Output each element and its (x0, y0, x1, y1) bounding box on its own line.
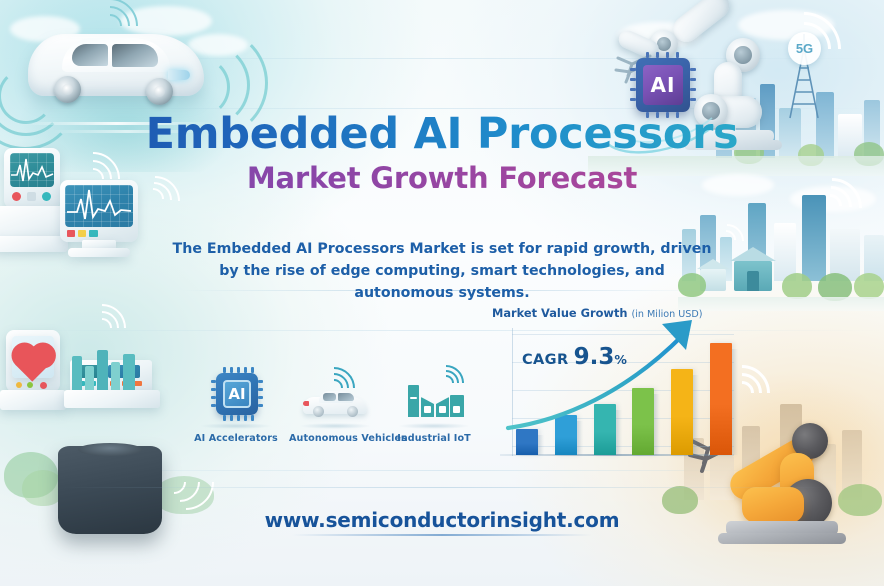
cagr-value: 9.3 (574, 344, 615, 370)
arm-base-plate (718, 533, 846, 544)
city-building (72, 356, 82, 390)
car-wheel (347, 406, 358, 417)
car-wheel (313, 406, 324, 417)
factory-vent (410, 397, 417, 399)
device-base (0, 390, 66, 410)
car-wheel (54, 76, 81, 103)
icon-shadow (398, 423, 470, 429)
chip-label: AI (223, 380, 251, 408)
car-windshield (112, 44, 158, 67)
intro-paragraph: The Embedded AI Processors Market is set… (168, 238, 716, 304)
screen-button (78, 230, 86, 237)
screen-button (67, 230, 75, 237)
factory-wifi-icon (388, 367, 480, 427)
house-door (747, 271, 759, 291)
category-item-autonomous-vehicles[interactable]: Autonomous Vehicles (289, 367, 381, 444)
chart-bar (671, 369, 693, 455)
factory-window (453, 406, 460, 413)
car-wheel (146, 78, 173, 105)
icon-shadow (200, 423, 272, 429)
panel-button (134, 381, 142, 386)
cagr-percent: % (614, 352, 627, 367)
chart-bar (516, 429, 538, 455)
tree (854, 273, 884, 299)
category-label: Industrial IoT (388, 433, 480, 444)
category-item-ai-accelerators[interactable]: AI (190, 367, 282, 444)
car-windshield (338, 393, 354, 401)
chart-bar (632, 388, 654, 455)
factory-window (439, 406, 446, 413)
speaker-ring (78, 443, 142, 456)
device-button (40, 382, 47, 389)
y-axis (512, 328, 513, 456)
factory-icon (408, 385, 464, 417)
car-headlight (168, 70, 190, 80)
infographic-poster: 5G AI (0, 0, 884, 586)
category-label: Autonomous Vehicles (289, 433, 381, 444)
device-button (16, 382, 22, 388)
market-growth-chart: Market Value Growth (in Milion USD) (486, 306, 736, 478)
category-row: AI (190, 352, 480, 444)
chart-bar (555, 415, 577, 455)
car-taillight (303, 401, 309, 406)
chart-bar (710, 343, 732, 455)
factory-window (424, 406, 431, 413)
page-title: Embedded AI Processors (0, 112, 884, 157)
panel-base (64, 390, 160, 408)
city-building (111, 362, 120, 390)
car-window (72, 44, 108, 66)
5g-tower: 5G (774, 26, 834, 122)
chart-bar (594, 404, 616, 455)
url-underline (292, 534, 592, 536)
icon-shadow (299, 423, 371, 429)
ai-chip-icon: AI (190, 367, 282, 427)
chart-unit-label: (in Milion USD) (631, 309, 702, 320)
city-building (85, 366, 94, 390)
chip-body: AI (216, 373, 258, 415)
device-button (27, 382, 33, 388)
monitor-foot (68, 248, 130, 257)
monitor-cart (0, 206, 64, 240)
website-url[interactable]: www.semiconductorinsight.com (0, 508, 884, 532)
screen-button (89, 230, 98, 237)
city-building (123, 354, 135, 390)
header: Embedded AI Processors Market Growth For… (0, 112, 884, 195)
cagr-label: CAGR (522, 352, 569, 368)
car-icon (303, 389, 367, 415)
divider (60, 487, 824, 488)
cagr-annotation: CAGR 9.3% (522, 344, 627, 370)
category-item-industrial-iot[interactable]: Industrial IoT (388, 367, 480, 444)
page-subtitle: Market Growth Forecast (0, 161, 884, 195)
city-building (774, 223, 796, 281)
tree (782, 273, 812, 299)
chart-title-text: Market Value Growth (492, 306, 628, 320)
chart-title: Market Value Growth (in Milion USD) (492, 306, 703, 320)
city-building (97, 350, 108, 390)
car-wifi-icon (289, 367, 381, 427)
car-window (323, 393, 336, 401)
monitor-base (0, 236, 68, 252)
category-label: AI Accelerators (190, 433, 282, 444)
factory-tower (408, 385, 419, 417)
